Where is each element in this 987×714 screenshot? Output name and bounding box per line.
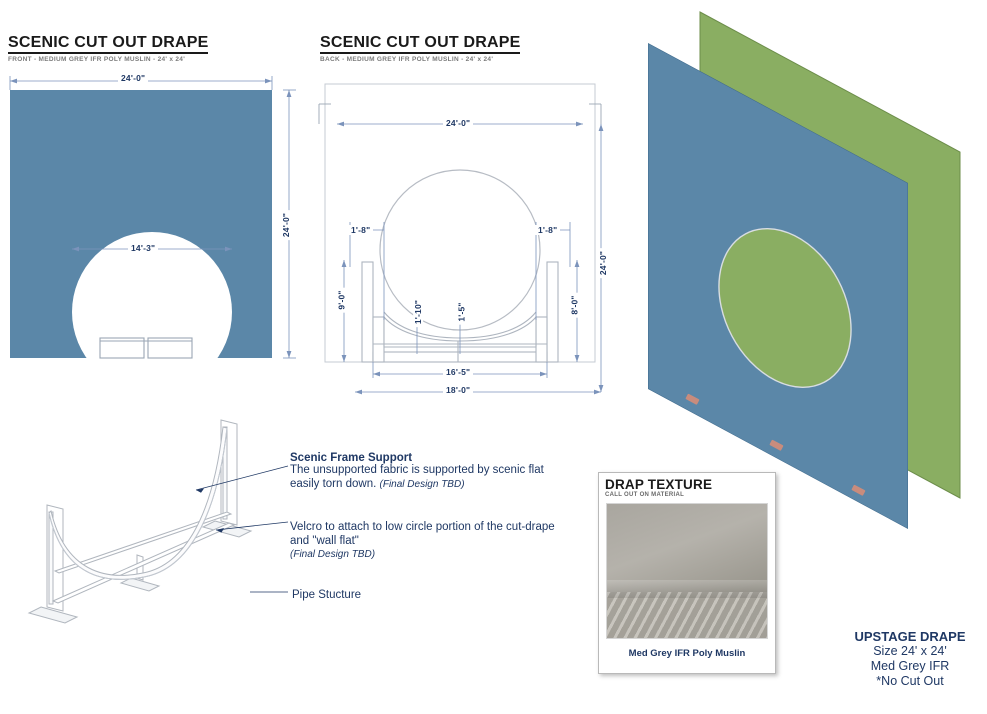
back-elevation-drawing xyxy=(300,62,630,412)
back-panel-title: SCENIC CUT OUT DRAPE xyxy=(320,34,520,54)
back-bottom-outer-dim-label: 18'-0" xyxy=(443,385,473,395)
back-inner-left-dim-label: 1'-10" xyxy=(413,297,423,327)
swatch-caption: Med Grey IFR Poly Muslin xyxy=(599,648,775,659)
back-left-inset-dim-label: 1'-8" xyxy=(348,225,373,235)
swatch-subtitle: CALL OUT ON MATERIAL xyxy=(605,492,769,498)
front-circle-cutout xyxy=(72,232,232,392)
front-width-dim-label: 24'-0" xyxy=(118,73,148,83)
front-height-dim-label: 24'-0" xyxy=(281,210,291,240)
note-heading: Scenic Frame Support xyxy=(290,452,575,464)
upstage-callout-line: Med Grey IFR xyxy=(845,659,975,674)
note-body: Velcro to attach to low circle portion o… xyxy=(290,521,575,548)
upstage-drape-callout: UPSTAGE DRAPE Size 24' x 24' Med Grey IF… xyxy=(845,629,975,689)
upstage-callout-heading: UPSTAGE DRAPE xyxy=(845,629,975,644)
back-right-outer-dim-label: 24'-0" xyxy=(598,248,608,278)
swatch-texture-image xyxy=(606,503,768,639)
back-bottom-outer-dim-line xyxy=(355,390,601,395)
front-panel-title-block: SCENIC CUT OUT DRAPE FRONT - MEDIUM GREY… xyxy=(8,34,208,63)
front-diameter-dim-label: 14'-3" xyxy=(128,243,158,253)
back-bottom-inner-dim-label: 16'-5" xyxy=(443,367,473,377)
note-italic: (Final Design TBD) xyxy=(290,548,575,562)
upstage-callout-line: Size 24' x 24' xyxy=(845,644,975,659)
note-body: The unsupported fabric is supported by s… xyxy=(290,464,575,491)
front-panel-title: SCENIC CUT OUT DRAPE xyxy=(8,34,208,54)
upstage-callout-line: *No Cut Out xyxy=(845,674,975,689)
back-panel-title-block: SCENIC CUT OUT DRAPE BACK - MEDIUM GREY … xyxy=(320,34,520,63)
drape-texture-card: DRAP TEXTURE CALL OUT ON MATERIAL Med Gr… xyxy=(598,472,776,674)
back-right-inset-dim-label: 1'-8" xyxy=(535,225,560,235)
back-width-dim-label: 24'-0" xyxy=(443,118,473,128)
note-italic: (Final Design TBD) xyxy=(380,479,465,490)
leader-line-scenic-frame xyxy=(196,466,288,490)
note-scenic-frame-support: Scenic Frame Support The unsupported fab… xyxy=(290,452,575,491)
note-pipe-structure: Pipe Stucture xyxy=(292,589,361,603)
back-right-inner-dim-label: 8'-0" xyxy=(570,292,580,317)
back-left-height-dim-label: 9'-0" xyxy=(337,287,347,312)
back-inner-right-dim-label: 1'-5" xyxy=(457,299,467,324)
leader-line-velcro xyxy=(216,522,288,530)
front-elevation-drawing xyxy=(0,62,310,372)
swatch-title: DRAP TEXTURE xyxy=(605,477,769,492)
note-velcro-attach: Velcro to attach to low circle portion o… xyxy=(290,521,575,562)
